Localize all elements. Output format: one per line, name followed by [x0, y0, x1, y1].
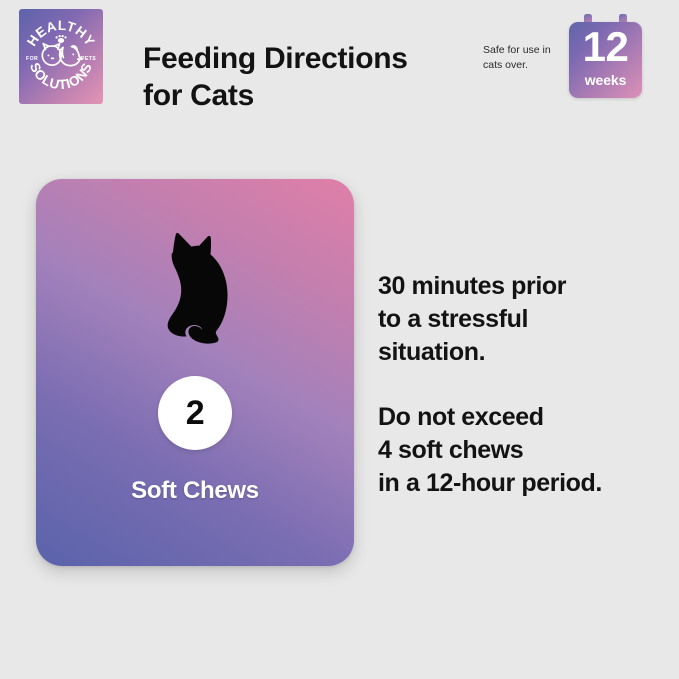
- instruction-line: 4 soft chews: [378, 434, 670, 467]
- dosage-card: 2 Soft Chews: [36, 179, 354, 566]
- logo-left-text: FOR: [26, 56, 38, 62]
- instruction-line: situation.: [378, 336, 670, 369]
- page-title: Feeding Directions for Cats: [143, 40, 473, 114]
- svg-text:HEALTHY: HEALTHY: [24, 18, 98, 49]
- brand-logo: HEALTHY SOLUTIONS FOR PETS: [19, 9, 103, 104]
- age-badge-number: 12: [569, 25, 642, 70]
- logo-right-text: PETS: [81, 56, 96, 62]
- cat-silhouette-icon: [36, 226, 354, 354]
- instruction-block-timing: 30 minutes prior to a stressful situatio…: [378, 270, 670, 369]
- safe-note-line-2: cats over.: [483, 58, 565, 73]
- instruction-line: 30 minutes prior: [378, 270, 670, 303]
- logo-paw-icon: [55, 35, 66, 43]
- age-badge: 12 weeks: [569, 14, 642, 98]
- svg-text:SOLUTIONS: SOLUTIONS: [27, 60, 95, 92]
- page-title-line-2: for Cats: [143, 77, 473, 114]
- page-title-line-1: Feeding Directions: [143, 40, 473, 77]
- instruction-block-limit: Do not exceed 4 soft chews in a 12-hour …: [378, 401, 670, 500]
- safe-for-use-note: Safe for use in cats over.: [483, 43, 565, 73]
- safe-note-line-1: Safe for use in: [483, 43, 565, 58]
- instructions-panel: 30 minutes prior to a stressful situatio…: [378, 245, 670, 525]
- logo-bottom-arc-text: SOLUTIONS: [27, 60, 95, 92]
- dose-label: Soft Chews: [36, 477, 354, 505]
- age-badge-unit: weeks: [569, 72, 642, 88]
- instruction-line: Do not exceed: [378, 401, 670, 434]
- calendar-icon: 12 weeks: [569, 22, 642, 98]
- logo-dog-face-icon: [60, 46, 83, 66]
- logo-top-arc-text: HEALTHY: [24, 18, 98, 49]
- dose-count-badge: 2: [158, 376, 232, 450]
- instruction-line: in a 12-hour period.: [378, 467, 670, 500]
- dose-count-number: 2: [186, 396, 204, 430]
- page-header: HEALTHY SOLUTIONS FOR PETS: [0, 0, 679, 118]
- logo-cat-face-icon: [42, 44, 61, 66]
- instruction-line: to a stressful: [378, 303, 670, 336]
